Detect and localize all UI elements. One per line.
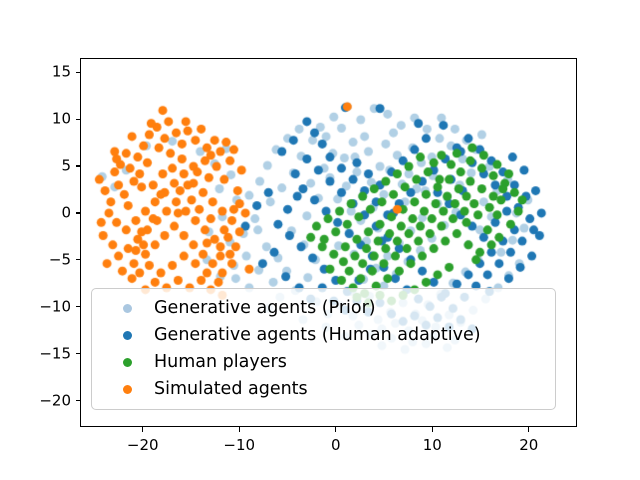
circle-marker-icon — [123, 385, 132, 394]
legend-item-simulated-agents: Simulated agents — [92, 376, 555, 403]
y-tick-mark — [76, 72, 81, 73]
y-tick-mark — [76, 212, 81, 213]
y-tick-mark — [76, 306, 81, 307]
x-tick-mark — [142, 427, 143, 432]
circle-marker-icon — [123, 304, 132, 313]
chart-legend: Generative agents (Prior) Generative age… — [91, 288, 556, 410]
x-tick-label: 0 — [331, 438, 341, 453]
circle-marker-icon — [123, 331, 132, 340]
legend-swatch-wrap — [104, 331, 150, 340]
y-tick-label: −20 — [20, 393, 71, 408]
y-tick-mark — [76, 119, 81, 120]
y-tick-label: 10 — [20, 112, 71, 127]
x-tick-label: 10 — [423, 438, 442, 453]
y-tick-label: 0 — [20, 205, 71, 220]
x-tick-mark — [432, 427, 433, 432]
x-tick-label: −10 — [223, 438, 255, 453]
legend-label: Generative agents (Human adaptive) — [150, 327, 481, 345]
x-tick-label: −20 — [127, 438, 159, 453]
y-tick-label: 5 — [20, 158, 71, 173]
y-tick-mark — [76, 400, 81, 401]
figure-canvas: 151050−5−10−15−20 −20−1001020 Generative… — [0, 0, 640, 480]
x-tick-mark — [528, 427, 529, 432]
y-tick-label: −15 — [20, 346, 71, 361]
circle-marker-icon — [123, 358, 132, 367]
y-tick-mark — [76, 353, 81, 354]
legend-item-generative-agents-human-adaptive: Generative agents (Human adaptive) — [92, 322, 555, 349]
legend-item-generative-agents-prior: Generative agents (Prior) — [92, 295, 555, 322]
y-tick-mark — [76, 165, 81, 166]
legend-item-human-players: Human players — [92, 349, 555, 376]
legend-swatch-wrap — [104, 385, 150, 394]
legend-swatch-wrap — [104, 358, 150, 367]
legend-label: Simulated agents — [150, 381, 308, 399]
x-tick-mark — [239, 427, 240, 432]
y-tick-label: −10 — [20, 299, 71, 314]
y-tick-mark — [76, 259, 81, 260]
x-tick-mark — [335, 427, 336, 432]
x-tick-label: 20 — [519, 438, 538, 453]
legend-label: Generative agents (Prior) — [150, 300, 376, 318]
legend-label: Human players — [150, 354, 287, 372]
legend-swatch-wrap — [104, 304, 150, 313]
y-tick-label: −5 — [20, 252, 71, 267]
y-tick-label: 15 — [20, 65, 71, 80]
